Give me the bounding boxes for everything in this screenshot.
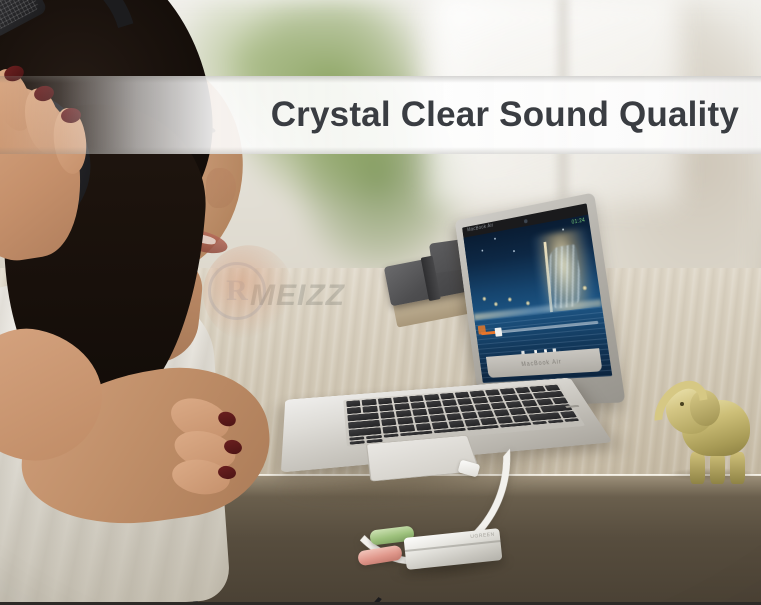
webcam-icon [524, 219, 528, 224]
laptop-screen[interactable]: MacBook Air 01:24 ◀▌ ▌▶ MacBook Air [462, 203, 612, 383]
banner-top-shade [0, 76, 761, 83]
person-cheek [198, 240, 299, 345]
laptop-brand-label: MacBook Air [521, 359, 562, 368]
adapter-seam [405, 540, 501, 552]
screen-brand-label: MacBook Air [467, 223, 494, 234]
headline-banner: Crystal Clear Sound Quality [0, 76, 761, 154]
adapter-brand-label: UGREEN [470, 532, 495, 541]
elephant-leg [730, 452, 745, 484]
page-title: Crystal Clear Sound Quality [271, 95, 761, 135]
video-progress-knob[interactable] [494, 328, 502, 337]
elephant-leg [710, 452, 725, 484]
banner-bottom-shade [0, 147, 761, 154]
laptop-lid: MacBook Air 01:24 ◀▌ ▌▶ MacBook Air [455, 192, 626, 407]
elephant-leg [690, 452, 705, 484]
elephant-figurine [660, 372, 760, 484]
product-banner-image: R MEIZZ [0, 0, 761, 605]
elephant-eye [680, 402, 684, 406]
